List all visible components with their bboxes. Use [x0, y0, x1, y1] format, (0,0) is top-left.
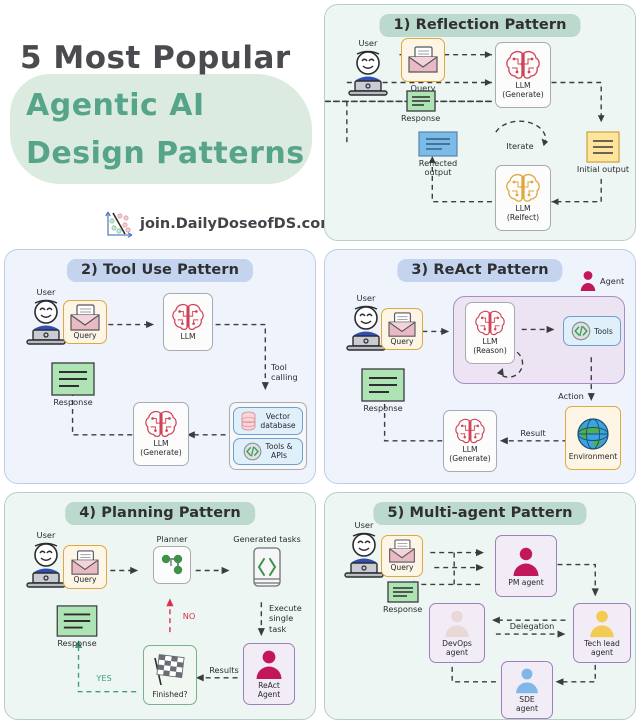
- node-llm-generate: LLM (Generate): [495, 42, 551, 108]
- node-response: Response: [55, 605, 99, 648]
- devops-agent-label-2: agent: [446, 648, 468, 657]
- llm-label: LLM: [180, 333, 195, 342]
- query-box: Query: [63, 545, 107, 589]
- delegation-label: Delegation: [497, 621, 567, 631]
- envelope-document-icon: [386, 312, 418, 338]
- panel-planning: 4) Planning Pattern User: [4, 492, 316, 720]
- panel-reflection-title: 1) Reflection Pattern: [380, 14, 581, 37]
- planner-box: [153, 546, 191, 584]
- node-query: Query: [381, 535, 423, 577]
- environment-box: Environment: [565, 406, 621, 470]
- brain-circuit-icon: [454, 418, 486, 446]
- checkered-flag-icon: [150, 652, 190, 690]
- query-box: Query: [381, 308, 423, 350]
- brain-circuit-icon: [505, 173, 541, 205]
- agent-person-icon: [442, 609, 472, 639]
- result-label: Result: [515, 428, 551, 438]
- tech-lead-agent-label-1: Tech lead: [584, 639, 620, 648]
- llm-generate-box: LLM (Generate): [495, 42, 551, 108]
- panel-reflection: 1) Reflection Pattern: [324, 4, 636, 241]
- node-response: Response: [401, 90, 440, 123]
- tools-label: Tools: [594, 327, 613, 336]
- globe-icon: [575, 416, 611, 452]
- query-label: Query: [390, 564, 413, 573]
- panel-react: 3) ReAct Pattern: [324, 249, 636, 484]
- title-line-1: 5 Most Popular: [20, 40, 291, 76]
- node-query: Query: [401, 38, 445, 93]
- panel-multi-agent-cell: 5) Multi-agent Pattern: [320, 488, 640, 724]
- agent-person-icon: [587, 609, 617, 639]
- brain-circuit-icon: [505, 50, 541, 82]
- response-doc-icon: [361, 368, 405, 402]
- reflected-output-doc-icon: [418, 131, 458, 157]
- envelope-document-icon: [387, 539, 417, 564]
- results-label: Results: [203, 665, 245, 675]
- node-response: Response: [51, 362, 95, 407]
- graph-nodes-icon: [158, 552, 186, 578]
- title-cell: 5 Most Popular Agentic AI Design Pattern…: [0, 0, 320, 245]
- sde-agent-box[interactable]: SDE agent: [501, 661, 553, 719]
- brain-circuit-icon: [144, 410, 178, 440]
- query-label: Query: [73, 332, 96, 341]
- code-document-icon: [248, 546, 286, 590]
- query-box: Query: [381, 535, 423, 577]
- tech-lead-agent-box[interactable]: Tech lead agent: [573, 603, 631, 663]
- pm-agent-label: PM agent: [508, 578, 543, 587]
- panel-tool-use-title: 2) Tool Use Pattern: [67, 259, 253, 282]
- tools-apis-label: Tools & APIs: [265, 442, 292, 460]
- react-agent-box[interactable]: ReAct Agent: [243, 643, 295, 705]
- sde-agent-label-1: SDE: [519, 695, 534, 704]
- panel-reflection-cell: 1) Reflection Pattern: [320, 0, 640, 245]
- environment-label: Environment: [569, 452, 618, 461]
- llm-generate-box: LLM (Generate): [133, 402, 189, 466]
- envelope-document-icon: [68, 304, 102, 332]
- user-label: User: [37, 288, 56, 298]
- user-at-laptop-icon: [343, 49, 393, 97]
- execute-single-task-label: Execute single task: [269, 603, 313, 634]
- agent-person-icon: [579, 270, 597, 292]
- vector-database-label: Vector database: [260, 412, 295, 430]
- node-response: Response: [383, 581, 422, 614]
- yes-label: YES: [89, 673, 119, 683]
- panel-planning-cell: 4) Planning Pattern User: [0, 488, 320, 724]
- response-doc-icon: [51, 362, 95, 396]
- response-doc-icon: [55, 605, 99, 637]
- tools-apis-box[interactable]: Tools & APIs: [233, 438, 303, 466]
- panel-react-title: 3) ReAct Pattern: [397, 259, 562, 282]
- tool-calling-label: Tool calling: [271, 362, 315, 383]
- devops-agent-label-1: DevOps: [442, 639, 472, 648]
- response-label: Response: [53, 398, 92, 407]
- devops-agent-box[interactable]: DevOps agent: [429, 603, 485, 663]
- node-user: User: [341, 39, 395, 97]
- react-agent-label-2: Agent: [258, 690, 280, 699]
- panel-tool-use-cell: 2) Tool Use Pattern User: [0, 245, 320, 488]
- action-label: Action: [553, 391, 589, 401]
- planner-label: Planner: [156, 535, 187, 544]
- initial-output-doc-icon: [586, 131, 620, 163]
- llm-reason-box: LLM (Reason): [465, 302, 515, 364]
- llm-generate-label-2: (Generate): [449, 455, 490, 464]
- query-label: Query: [73, 576, 96, 585]
- llm-generate-label-2: (Generate): [502, 91, 543, 100]
- response-label: Response: [401, 114, 440, 123]
- brand-text[interactable]: join.DailyDoseofDS.com: [140, 216, 335, 232]
- database-cylinder-icon: [240, 411, 257, 431]
- llm-reflect-label-2: (Relfect): [507, 214, 539, 223]
- node-query: Query: [63, 545, 107, 589]
- user-label: User: [355, 521, 374, 531]
- tools-box[interactable]: Tools: [563, 316, 621, 346]
- finished-label: Finished?: [152, 690, 187, 699]
- node-query: Query: [63, 300, 107, 344]
- tools-container: Vector database Tools & APIs: [229, 402, 307, 470]
- panel-planning-title: 4) Planning Pattern: [65, 502, 255, 525]
- response-doc-icon: [387, 581, 419, 603]
- query-box: [401, 38, 445, 82]
- node-llm-reason: LLM (Reason): [465, 302, 515, 364]
- brand-row: join.DailyDoseofDS.com: [104, 209, 335, 239]
- node-reflected-output: Reflected output: [407, 131, 469, 178]
- llm-box: LLM: [163, 293, 213, 351]
- llm-generate-box: LLM (Generate): [443, 410, 497, 472]
- user-label: User: [357, 294, 376, 304]
- infographic-grid: 5 Most Popular Agentic AI Design Pattern…: [0, 0, 640, 724]
- node-llm-generate: LLM (Generate): [133, 402, 189, 466]
- agent-person-icon: [253, 649, 285, 681]
- panel-react-cell: 3) ReAct Pattern: [320, 245, 640, 488]
- panel-multi-agent: 5) Multi-agent Pattern: [324, 492, 636, 720]
- node-llm-generate: LLM (Generate): [443, 410, 497, 472]
- node-planner: Planner: [145, 535, 199, 584]
- finished-box[interactable]: Finished?: [143, 645, 197, 705]
- sde-agent-label-2: agent: [516, 704, 538, 713]
- no-label: NO: [177, 611, 201, 621]
- code-brackets-icon: [243, 442, 262, 461]
- query-box: Query: [63, 300, 107, 344]
- title-line-3: Design Patterns: [26, 136, 305, 171]
- react-agent-label-1: ReAct: [258, 681, 280, 690]
- agent-person-icon: [513, 667, 541, 695]
- panel-multi-agent-title: 5) Multi-agent Pattern: [373, 502, 586, 525]
- agent-legend: Agent: [579, 270, 624, 292]
- scatter-plot-icon: [104, 209, 134, 239]
- node-initial-output: Initial output: [573, 131, 633, 174]
- brain-circuit-icon: [171, 303, 205, 333]
- pm-agent-box[interactable]: PM agent: [495, 535, 557, 597]
- agent-label: Agent: [600, 276, 624, 286]
- node-query: Query: [381, 308, 423, 350]
- response-label: Response: [383, 605, 422, 614]
- title-line-2: Agentic AI: [26, 88, 205, 123]
- code-brackets-icon: [571, 321, 591, 341]
- response-doc-icon: [406, 90, 436, 112]
- envelope-document-icon: [69, 550, 101, 576]
- response-label: Response: [57, 639, 96, 648]
- tech-lead-agent-label-2: agent: [591, 648, 613, 657]
- node-response: Response: [361, 368, 405, 413]
- user-label: User: [37, 531, 56, 541]
- node-generated-tasks: Generated tasks: [233, 535, 301, 590]
- envelope-document-icon: [406, 46, 440, 74]
- generated-tasks-label: Generated tasks: [233, 535, 301, 544]
- initial-output-label: Initial output: [577, 165, 629, 174]
- node-llm: LLM: [163, 293, 213, 351]
- llm-reason-label-2: (Reason): [473, 347, 507, 356]
- panel-tool-use: 2) Tool Use Pattern User: [4, 249, 316, 484]
- llm-reflect-box: LLM (Relfect): [495, 165, 551, 231]
- agent-person-icon: [510, 546, 542, 578]
- reflected-output-label: Reflected output: [407, 159, 469, 178]
- user-label: User: [359, 39, 378, 49]
- iterate-label: Iterate: [493, 141, 547, 151]
- llm-generate-label-2: (Generate): [140, 449, 181, 458]
- response-label: Response: [363, 404, 402, 413]
- query-label: Query: [390, 338, 413, 347]
- brain-circuit-icon: [474, 310, 506, 338]
- vector-database-box[interactable]: Vector database: [233, 407, 303, 435]
- node-llm-reflect: LLM (Relfect): [495, 165, 551, 231]
